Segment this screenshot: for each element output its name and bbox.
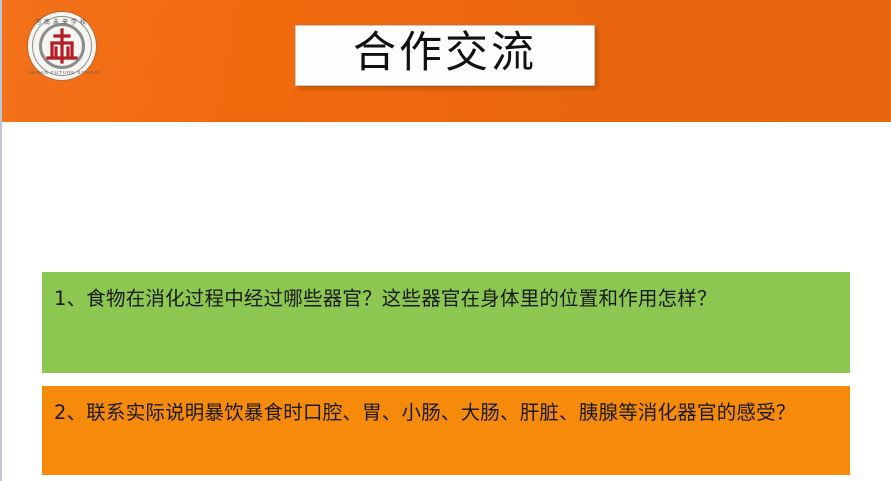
presentation-slide: 河南未来学校 HENAN FUTURE SCHOOL 合作交流 1、食物在消化过… (0, 0, 891, 481)
question-box-2: 2、联系实际说明暴饮暴食时口腔、胃、小肠、大肠、肝脏、胰腺等消化器官的感受？ (42, 386, 850, 475)
slide-title-plate: 合作交流 (295, 25, 595, 86)
slide-title: 合作交流 (353, 32, 537, 79)
question-text-1: 1、食物在消化过程中经过哪些器官？这些器官在身体里的位置和作用怎样？ (54, 282, 838, 316)
question-text-2: 2、联系实际说明暴饮暴食时口腔、胃、小肠、大肠、肝脏、胰腺等消化器官的感受？ (54, 396, 838, 430)
slide-body: 1、食物在消化过程中经过哪些器官？这些器官在身体里的位置和作用怎样？ 2、联系实… (2, 122, 891, 481)
school-logo-icon: 河南未来学校 HENAN FUTURE SCHOOL (28, 12, 96, 80)
question-box-1: 1、食物在消化过程中经过哪些器官？这些器官在身体里的位置和作用怎样？ (42, 272, 850, 373)
logo-chinese-arc-text: 河南未来学校 (28, 17, 96, 26)
logo-english-arc-text: HENAN FUTURE SCHOOL (28, 70, 96, 75)
